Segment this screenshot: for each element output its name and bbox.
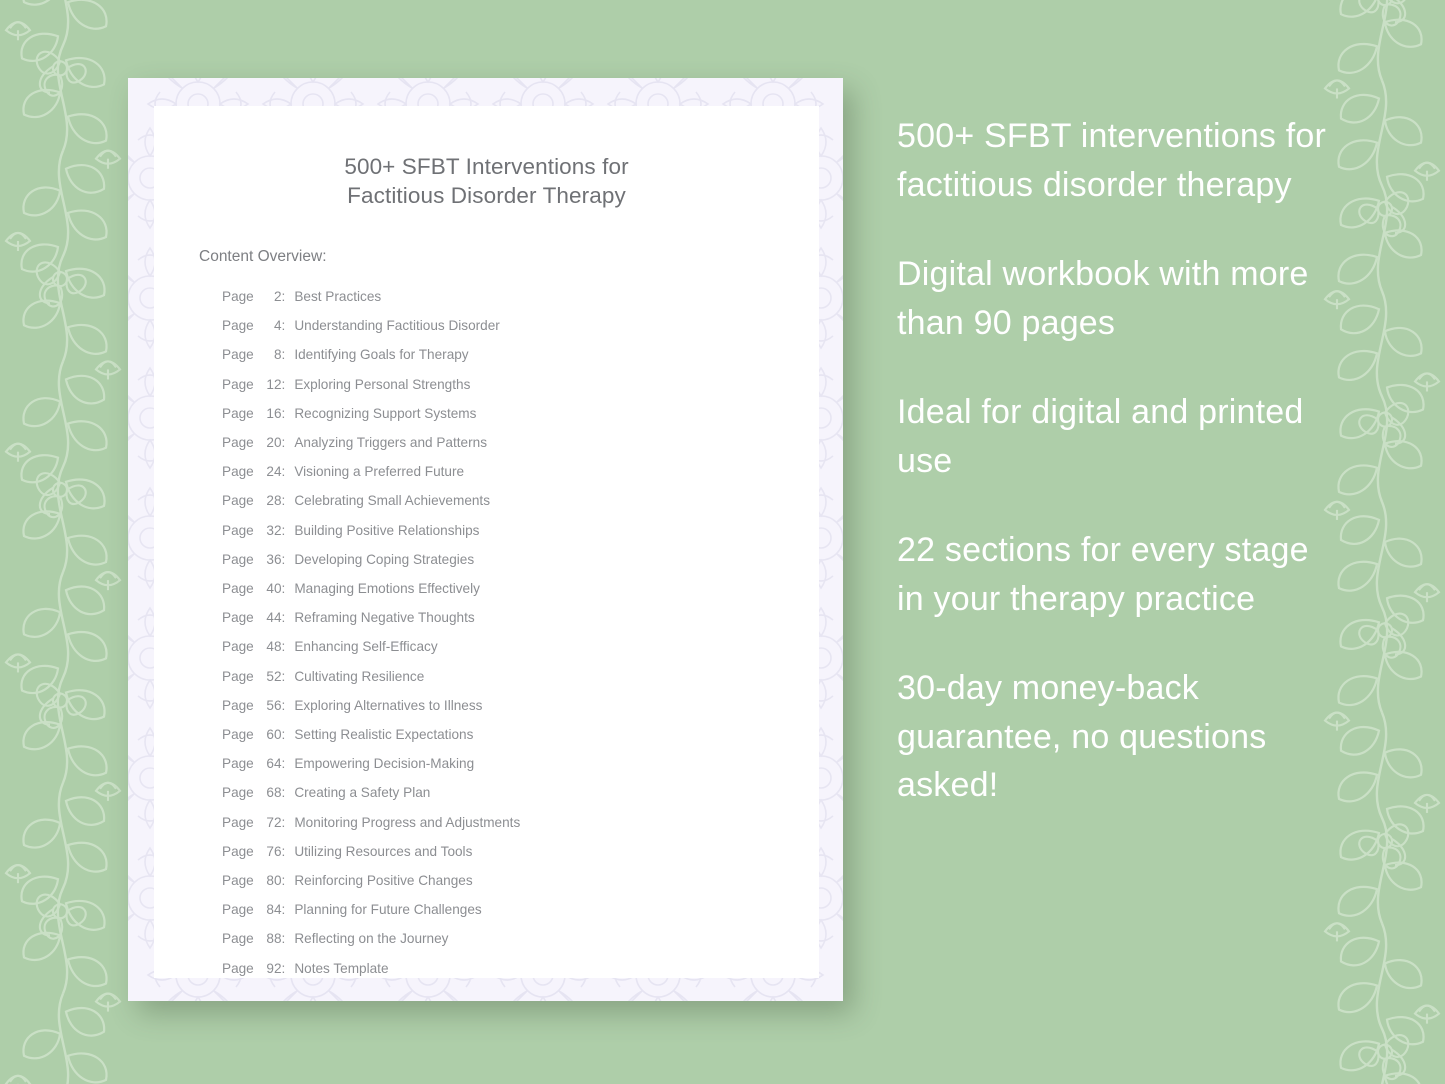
floral-vine-border-right-icon [1307,0,1445,1084]
marketing-blurb: 22 sections for every stage in your ther… [897,526,1327,623]
toc-entry-title: Creating a Safety Plan [294,778,430,807]
toc-entry: Page 76:Utilizing Resources and Tools [222,837,819,866]
toc-page-number: 8 [258,340,282,369]
toc-colon: : [282,954,286,983]
toc-colon: : [282,662,286,691]
toc-entry: Page 36:Developing Coping Strategies [222,545,819,574]
toc-entry-title: Managing Emotions Effectively [294,574,480,603]
toc-page-word: Page [222,311,258,340]
toc-page-word: Page [222,486,258,515]
toc-entry-title: Reframing Negative Thoughts [294,603,474,632]
toc-page-word: Page [222,574,258,603]
toc-entry-title: Notes Template [294,954,388,983]
toc-entry: Page 4:Understanding Factitious Disorder [222,311,819,340]
toc-page-number: 84 [258,895,282,924]
toc-page-word: Page [222,691,258,720]
toc-entry: Page 28:Celebrating Small Achievements [222,486,819,515]
toc-entry-title: Utilizing Resources and Tools [294,837,472,866]
toc-page-word: Page [222,808,258,837]
page-title-line-2: Factitious Disorder Therapy [347,183,626,208]
toc-entry-title: Reinforcing Positive Changes [294,866,472,895]
content-overview-label: Content Overview: [199,248,819,266]
toc-entry: Page 88:Reflecting on the Journey [222,924,819,953]
toc-page-word: Page [222,428,258,457]
workbook-page: 500+ SFBT Interventions for Factitious D… [154,106,819,978]
toc-colon: : [282,574,286,603]
toc-page-number: 28 [258,486,282,515]
toc-page-number: 80 [258,866,282,895]
toc-entry-title: Empowering Decision-Making [294,749,474,778]
marketing-blurb-list: 500+ SFBT interventions for factitious d… [897,112,1327,810]
toc-page-word: Page [222,924,258,953]
toc-entry-title: Analyzing Triggers and Patterns [294,428,487,457]
toc-page-number: 16 [258,399,282,428]
toc-colon: : [282,778,286,807]
toc-entry: Page 68:Creating a Safety Plan [222,778,819,807]
toc-colon: : [282,837,286,866]
toc-page-number: 40 [258,574,282,603]
toc-entry-title: Identifying Goals for Therapy [294,340,468,369]
toc-page-number: 68 [258,778,282,807]
toc-entry: Page 80:Reinforcing Positive Changes [222,866,819,895]
toc-page-number: 12 [258,370,282,399]
toc-page-number: 72 [258,808,282,837]
toc-colon: : [282,545,286,574]
toc-colon: : [282,486,286,515]
toc-entry: Page 2:Best Practices [222,282,819,311]
toc-entry-title: Building Positive Relationships [294,516,479,545]
toc-page-number: 52 [258,662,282,691]
toc-entry: Page 64:Empowering Decision-Making [222,749,819,778]
toc-colon: : [282,895,286,924]
toc-colon: : [282,311,286,340]
toc-page-word: Page [222,457,258,486]
toc-page-word: Page [222,954,258,983]
toc-page-number: 88 [258,924,282,953]
toc-entry-title: Planning for Future Challenges [294,895,481,924]
toc-page-word: Page [222,720,258,749]
toc-page-word: Page [222,866,258,895]
toc-page-number: 2 [258,282,282,311]
toc-page-word: Page [222,837,258,866]
toc-entry: Page 84:Planning for Future Challenges [222,895,819,924]
page-title: 500+ SFBT Interventions for Factitious D… [214,152,759,210]
toc-colon: : [282,428,286,457]
toc-page-number: 24 [258,457,282,486]
toc-page-word: Page [222,399,258,428]
toc-colon: : [282,866,286,895]
toc-entry: Page 72:Monitoring Progress and Adjustme… [222,808,819,837]
toc-entry-title: Exploring Alternatives to Illness [294,691,482,720]
toc-entry-title: Reflecting on the Journey [294,924,448,953]
toc-entry: Page 8:Identifying Goals for Therapy [222,340,819,369]
toc-entry: Page 24:Visioning a Preferred Future [222,457,819,486]
toc-page-number: 44 [258,603,282,632]
toc-entry: Page 12:Exploring Personal Strengths [222,370,819,399]
toc-colon: : [282,457,286,486]
toc-colon: : [282,691,286,720]
toc-colon: : [282,340,286,369]
toc-page-word: Page [222,778,258,807]
toc-entry: Page 60:Setting Realistic Expectations [222,720,819,749]
toc-entry: Page 32:Building Positive Relationships [222,516,819,545]
toc-entry-title: Celebrating Small Achievements [294,486,490,515]
toc-colon: : [282,603,286,632]
toc-entry-title: Understanding Factitious Disorder [294,311,500,340]
toc-page-word: Page [222,749,258,778]
toc-entry: Page 16:Recognizing Support Systems [222,399,819,428]
toc-entry-title: Recognizing Support Systems [294,399,476,428]
toc-entry-title: Cultivating Resilience [294,662,424,691]
toc-colon: : [282,808,286,837]
toc-page-number: 60 [258,720,282,749]
toc-page-word: Page [222,545,258,574]
toc-entry: Page 44:Reframing Negative Thoughts [222,603,819,632]
toc-page-number: 64 [258,749,282,778]
marketing-blurb: 500+ SFBT interventions for factitious d… [897,112,1327,209]
marketing-blurb: Digital workbook with more than 90 pages [897,250,1327,347]
toc-page-number: 4 [258,311,282,340]
toc-entry-title: Exploring Personal Strengths [294,370,470,399]
toc-entry: Page 20:Analyzing Triggers and Patterns [222,428,819,457]
toc-page-word: Page [222,516,258,545]
toc-page-word: Page [222,895,258,924]
toc-colon: : [282,370,286,399]
toc-colon: : [282,924,286,953]
toc-entry-title: Developing Coping Strategies [294,545,474,574]
toc-page-number: 56 [258,691,282,720]
toc-entry: Page 52:Cultivating Resilience [222,662,819,691]
toc-page-word: Page [222,370,258,399]
marketing-blurb: Ideal for digital and printed use [897,388,1327,485]
toc-colon: : [282,399,286,428]
toc-page-word: Page [222,340,258,369]
toc-colon: : [282,632,286,661]
page-title-line-1: 500+ SFBT Interventions for [344,154,628,179]
toc-page-word: Page [222,632,258,661]
workbook-preview-card: 500+ SFBT Interventions for Factitious D… [128,78,843,1001]
toc-entry: Page 92:Notes Template [222,954,819,983]
toc-entry-title: Monitoring Progress and Adjustments [294,808,520,837]
toc-entry-title: Enhancing Self-Efficacy [294,632,437,661]
toc-entry-title: Setting Realistic Expectations [294,720,473,749]
table-of-contents: Page 2:Best PracticesPage 4:Understandin… [222,282,819,983]
toc-entry: Page 56:Exploring Alternatives to Illnes… [222,691,819,720]
toc-colon: : [282,516,286,545]
marketing-blurb: 30-day money-back guarantee, no question… [897,664,1327,810]
toc-entry-title: Visioning a Preferred Future [294,457,464,486]
toc-page-number: 76 [258,837,282,866]
toc-page-number: 32 [258,516,282,545]
toc-entry: Page 48:Enhancing Self-Efficacy [222,632,819,661]
toc-colon: : [282,749,286,778]
toc-page-number: 36 [258,545,282,574]
toc-page-number: 20 [258,428,282,457]
toc-page-word: Page [222,603,258,632]
toc-page-word: Page [222,282,258,311]
toc-entry-title: Best Practices [294,282,381,311]
floral-vine-border-left-icon [0,0,138,1084]
toc-page-number: 48 [258,632,282,661]
toc-page-word: Page [222,662,258,691]
toc-colon: : [282,282,286,311]
toc-page-number: 92 [258,954,282,983]
toc-colon: : [282,720,286,749]
toc-entry: Page 40:Managing Emotions Effectively [222,574,819,603]
